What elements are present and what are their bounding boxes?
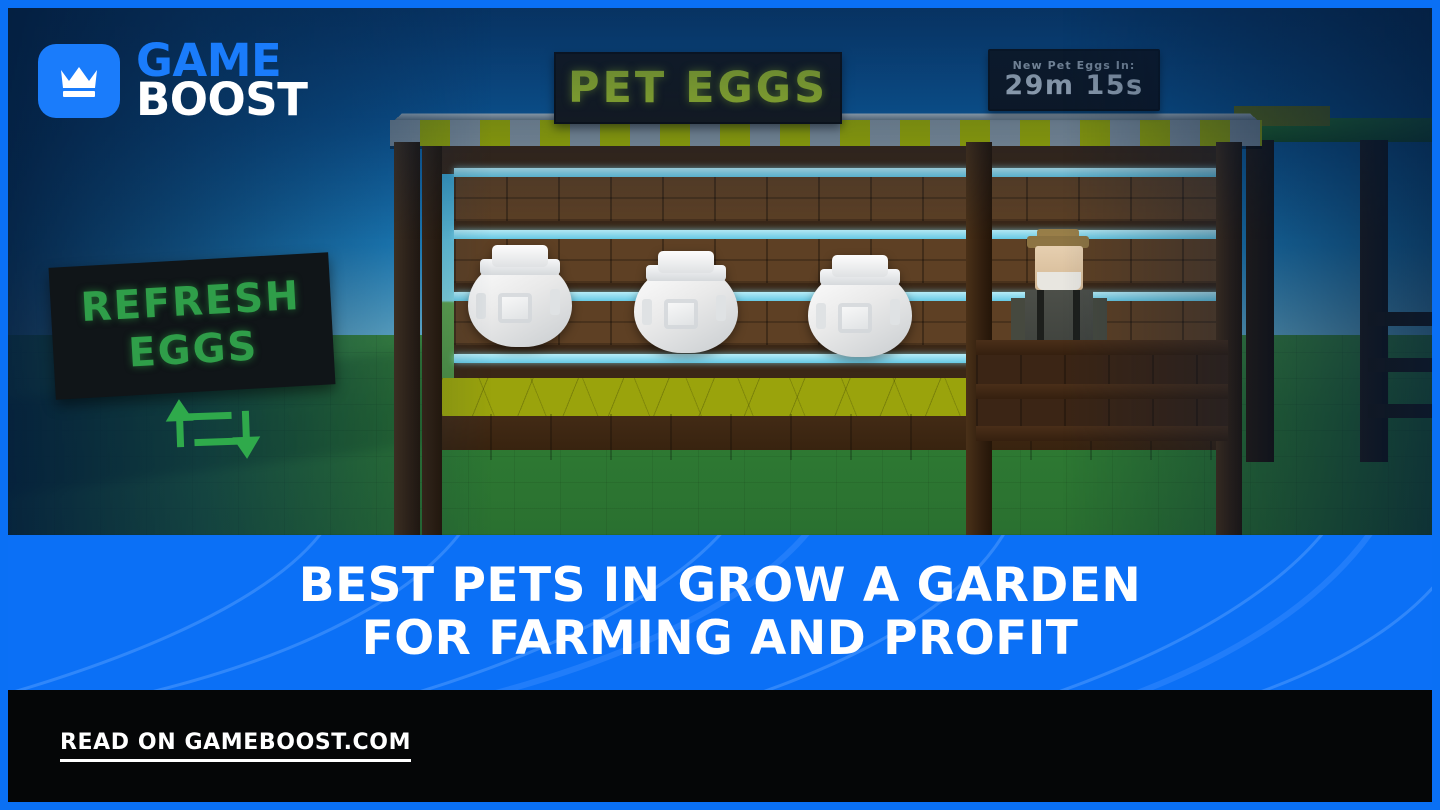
egg-top-cap: [832, 255, 888, 277]
refresh-sign-line2: EGGS: [127, 323, 259, 376]
hero-game-screenshot: PET EGGS New Pet Eggs In: 29m 15s REFRES…: [8, 8, 1432, 535]
egg-side-nub: [816, 303, 826, 329]
egg-face-plate: [664, 299, 698, 329]
egg-face-plate: [838, 303, 872, 333]
footer-bar: Read on GameBoost.com: [8, 690, 1432, 802]
egg-side-nub: [550, 289, 560, 315]
egg-side-nub: [890, 299, 900, 325]
refresh-cycle-arrows-icon: [159, 384, 268, 474]
gameboost-logo[interactable]: GAME BOOST: [38, 42, 307, 119]
crown-icon: [57, 63, 101, 99]
page-title: Best Pets in Grow a Garden for Farming a…: [299, 560, 1141, 665]
refresh-eggs-sign[interactable]: REFRESH EGGS: [49, 252, 336, 399]
egg-top-cap: [658, 251, 714, 273]
egg-side-nub: [716, 295, 726, 321]
page-title-line2: for Farming and Profit: [362, 611, 1079, 666]
page-title-line1: Best Pets in Grow a Garden: [299, 558, 1141, 613]
egg-side-nub: [642, 299, 652, 325]
logo-wordmark: GAME BOOST: [136, 42, 307, 119]
egg-face-plate: [498, 293, 532, 323]
thumbnail-frame: PET EGGS New Pet Eggs In: 29m 15s REFRES…: [0, 0, 1440, 810]
right-vignette-overlay: [1062, 8, 1432, 535]
title-band: Best Pets in Grow a Garden for Farming a…: [8, 535, 1432, 690]
pet-egg-item[interactable]: [628, 243, 744, 353]
read-on-gameboost-link[interactable]: Read on GameBoost.com: [60, 730, 411, 762]
logo-word-boost: BOOST: [136, 81, 307, 120]
logo-badge: [38, 44, 120, 118]
pet-egg-item[interactable]: [802, 247, 918, 357]
refresh-sign-line1: REFRESH: [80, 273, 302, 331]
egg-top-cap: [492, 245, 548, 267]
